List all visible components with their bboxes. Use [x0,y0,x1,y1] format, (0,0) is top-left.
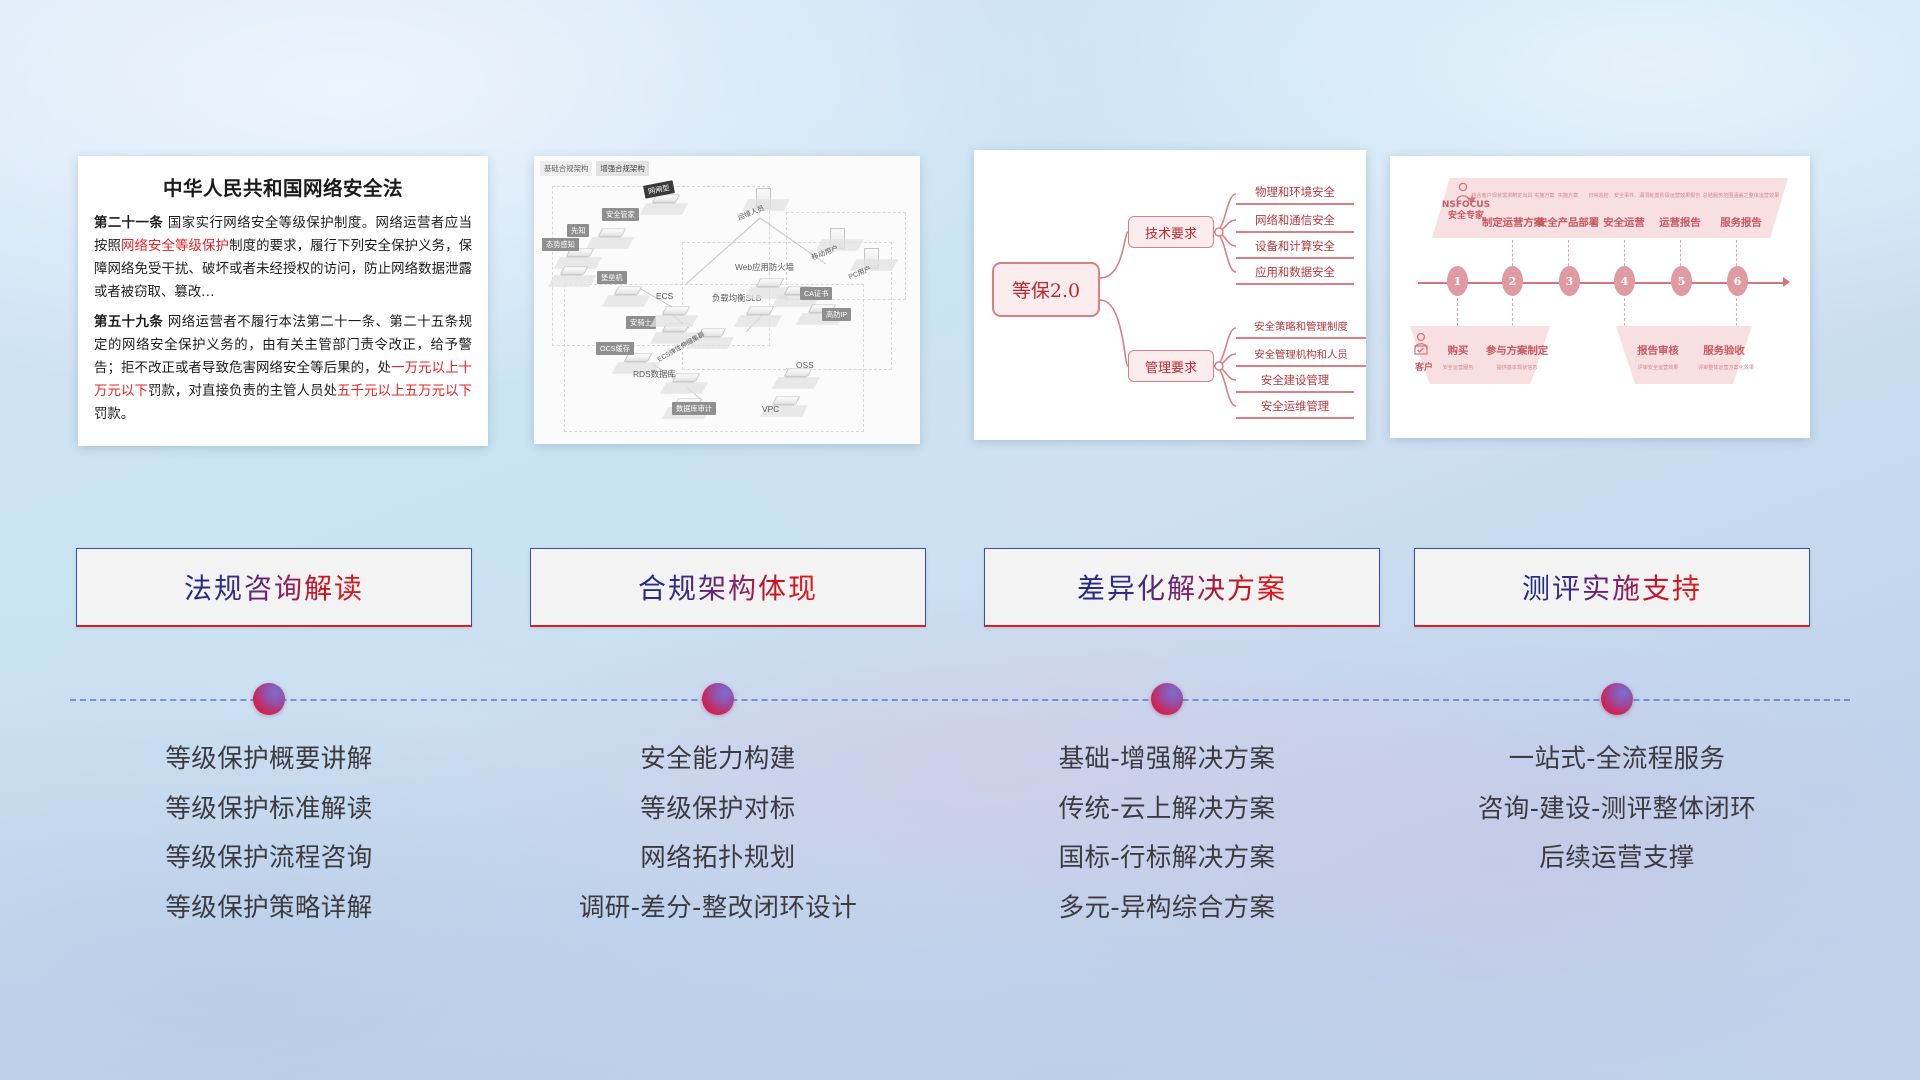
list-item: 传统-云上解决方案 [932,785,1402,835]
feature-list-assessment: 一站式-全流程服务 咨询-建设-测评整体闭环 后续运营支撑 [1382,735,1852,884]
list-item: 国标-行标解决方案 [932,834,1402,884]
list-item: 基础-增强解决方案 [932,735,1402,785]
list-item: 网络拓扑规划 [483,834,953,884]
title-label: 差异化解决方案 [1077,567,1287,607]
title-label: 测评实施支持 [1522,567,1702,607]
list-item: 等级保护概要讲解 [34,735,504,785]
title-box-compliance-architecture[interactable]: 合规架构体现 [530,548,926,627]
timeline-dashed-line [70,699,1850,701]
list-item: 调研-差分-整改闭环设计 [483,884,953,934]
title-label: 法规咨询解读 [184,567,364,607]
list-item: 后续运营支撑 [1382,834,1852,884]
timeline-connector [0,690,1920,730]
list-item: 等级保护流程咨询 [34,834,504,884]
list-item: 安全能力构建 [483,735,953,785]
list-item: 等级保护对标 [483,785,953,835]
list-item: 咨询-建设-测评整体闭环 [1382,785,1852,835]
title-box-differentiated-solution[interactable]: 差异化解决方案 [984,548,1380,627]
feature-lists: 等级保护概要讲解 等级保护标准解读 等级保护流程咨询 等级保护策略详解 安全能力… [0,735,1920,1035]
timeline-dot-3[interactable] [1151,683,1183,715]
timeline-dot-4[interactable] [1601,683,1633,715]
list-item: 等级保护标准解读 [34,785,504,835]
feature-list-architecture: 安全能力构建 等级保护对标 网络拓扑规划 调研-差分-整改闭环设计 [483,735,953,933]
title-box-assessment-support[interactable]: 测评实施支持 [1414,548,1810,627]
feature-list-regulation: 等级保护概要讲解 等级保护标准解读 等级保护流程咨询 等级保护策略详解 [34,735,504,933]
list-item: 等级保护策略详解 [34,884,504,934]
timeline-dot-1[interactable] [253,683,285,715]
list-item: 一站式-全流程服务 [1382,735,1852,785]
title-box-regulation-consulting[interactable]: 法规咨询解读 [76,548,472,627]
title-label: 合规架构体现 [638,567,818,607]
feature-list-solution: 基础-增强解决方案 传统-云上解决方案 国标-行标解决方案 多元-异构综合方案 [932,735,1402,933]
list-item: 多元-异构综合方案 [932,884,1402,934]
timeline-dot-2[interactable] [702,683,734,715]
